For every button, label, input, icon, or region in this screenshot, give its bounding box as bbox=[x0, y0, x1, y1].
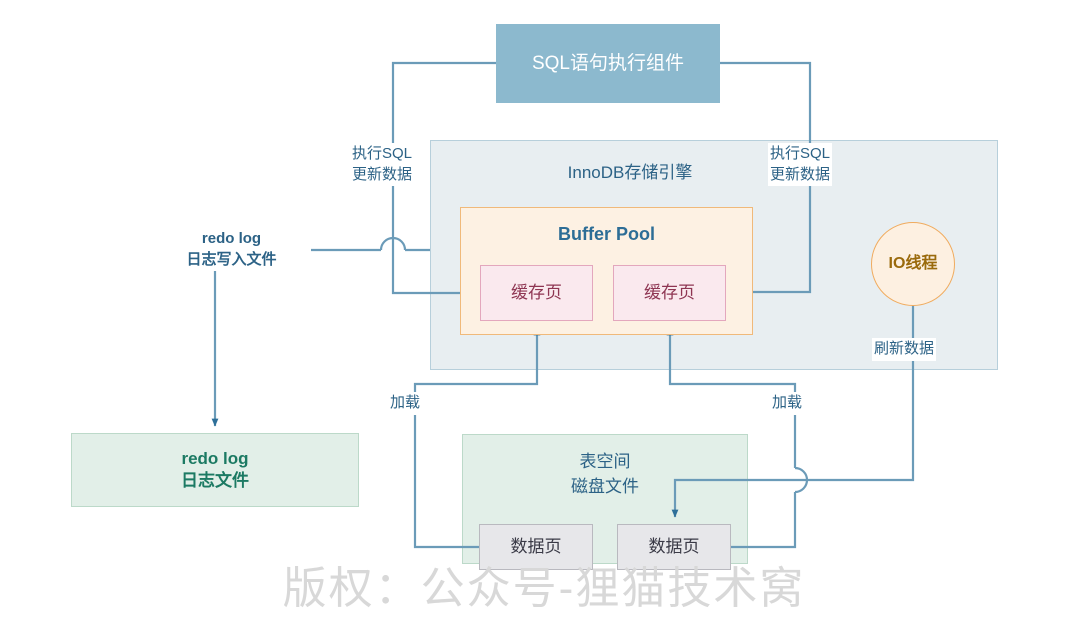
io-thread-label: IO线程 bbox=[889, 253, 938, 274]
edge-label-exec-sql-right: 执行SQL 更新数据 bbox=[768, 143, 832, 186]
data-page-1-label: 数据页 bbox=[511, 536, 562, 558]
cache-page-1-label: 缓存页 bbox=[511, 282, 562, 304]
edge-label-exec-sql-right-line2: 更新数据 bbox=[770, 165, 830, 186]
tablespace-label: 表空间 磁盘文件 bbox=[462, 447, 748, 497]
data-page-1[interactable]: 数据页 bbox=[479, 524, 593, 570]
buffer-pool-label: Buffer Pool bbox=[460, 224, 753, 245]
data-page-2[interactable]: 数据页 bbox=[617, 524, 731, 570]
tablespace-line1: 表空间 bbox=[462, 447, 748, 472]
cache-page-2[interactable]: 缓存页 bbox=[613, 265, 726, 321]
edge-label-redo-log-write: redo log 日志写入文件 bbox=[152, 228, 311, 271]
edge-label-load-left: 加载 bbox=[388, 392, 422, 415]
diagram-canvas: SQL语句执行组件 InnoDB存储引擎 Buffer Pool 缓存页 缓存页… bbox=[0, 0, 1088, 626]
edge-label-exec-sql-left: 执行SQL 更新数据 bbox=[350, 143, 414, 186]
cache-page-1[interactable]: 缓存页 bbox=[480, 265, 593, 321]
edge-label-redo-log-write-line1: redo log bbox=[154, 229, 309, 250]
data-page-2-label: 数据页 bbox=[649, 536, 700, 558]
edge-label-exec-sql-left-line2: 更新数据 bbox=[352, 165, 412, 186]
edge-label-flush-data: 刷新数据 bbox=[872, 338, 936, 361]
io-thread-node[interactable]: IO线程 bbox=[871, 222, 955, 306]
sql-executor-node[interactable]: SQL语句执行组件 bbox=[496, 24, 720, 103]
tablespace-line2: 磁盘文件 bbox=[462, 472, 748, 497]
edge-label-exec-sql-right-line1: 执行SQL bbox=[770, 144, 830, 165]
edge-label-exec-sql-left-line1: 执行SQL bbox=[352, 144, 412, 165]
edge-redo-log-hop bbox=[381, 238, 405, 250]
redo-log-file-line2: 日志文件 bbox=[181, 470, 249, 492]
edge-label-load-right: 加载 bbox=[770, 392, 804, 415]
edge-load-right-hop bbox=[795, 468, 807, 492]
redo-log-file-node[interactable]: redo log 日志文件 bbox=[71, 433, 359, 507]
cache-page-2-label: 缓存页 bbox=[644, 282, 695, 304]
redo-log-file-line1: redo log bbox=[181, 448, 248, 470]
sql-executor-label: SQL语句执行组件 bbox=[532, 51, 684, 76]
edge-label-redo-log-write-line2: 日志写入文件 bbox=[154, 250, 309, 271]
